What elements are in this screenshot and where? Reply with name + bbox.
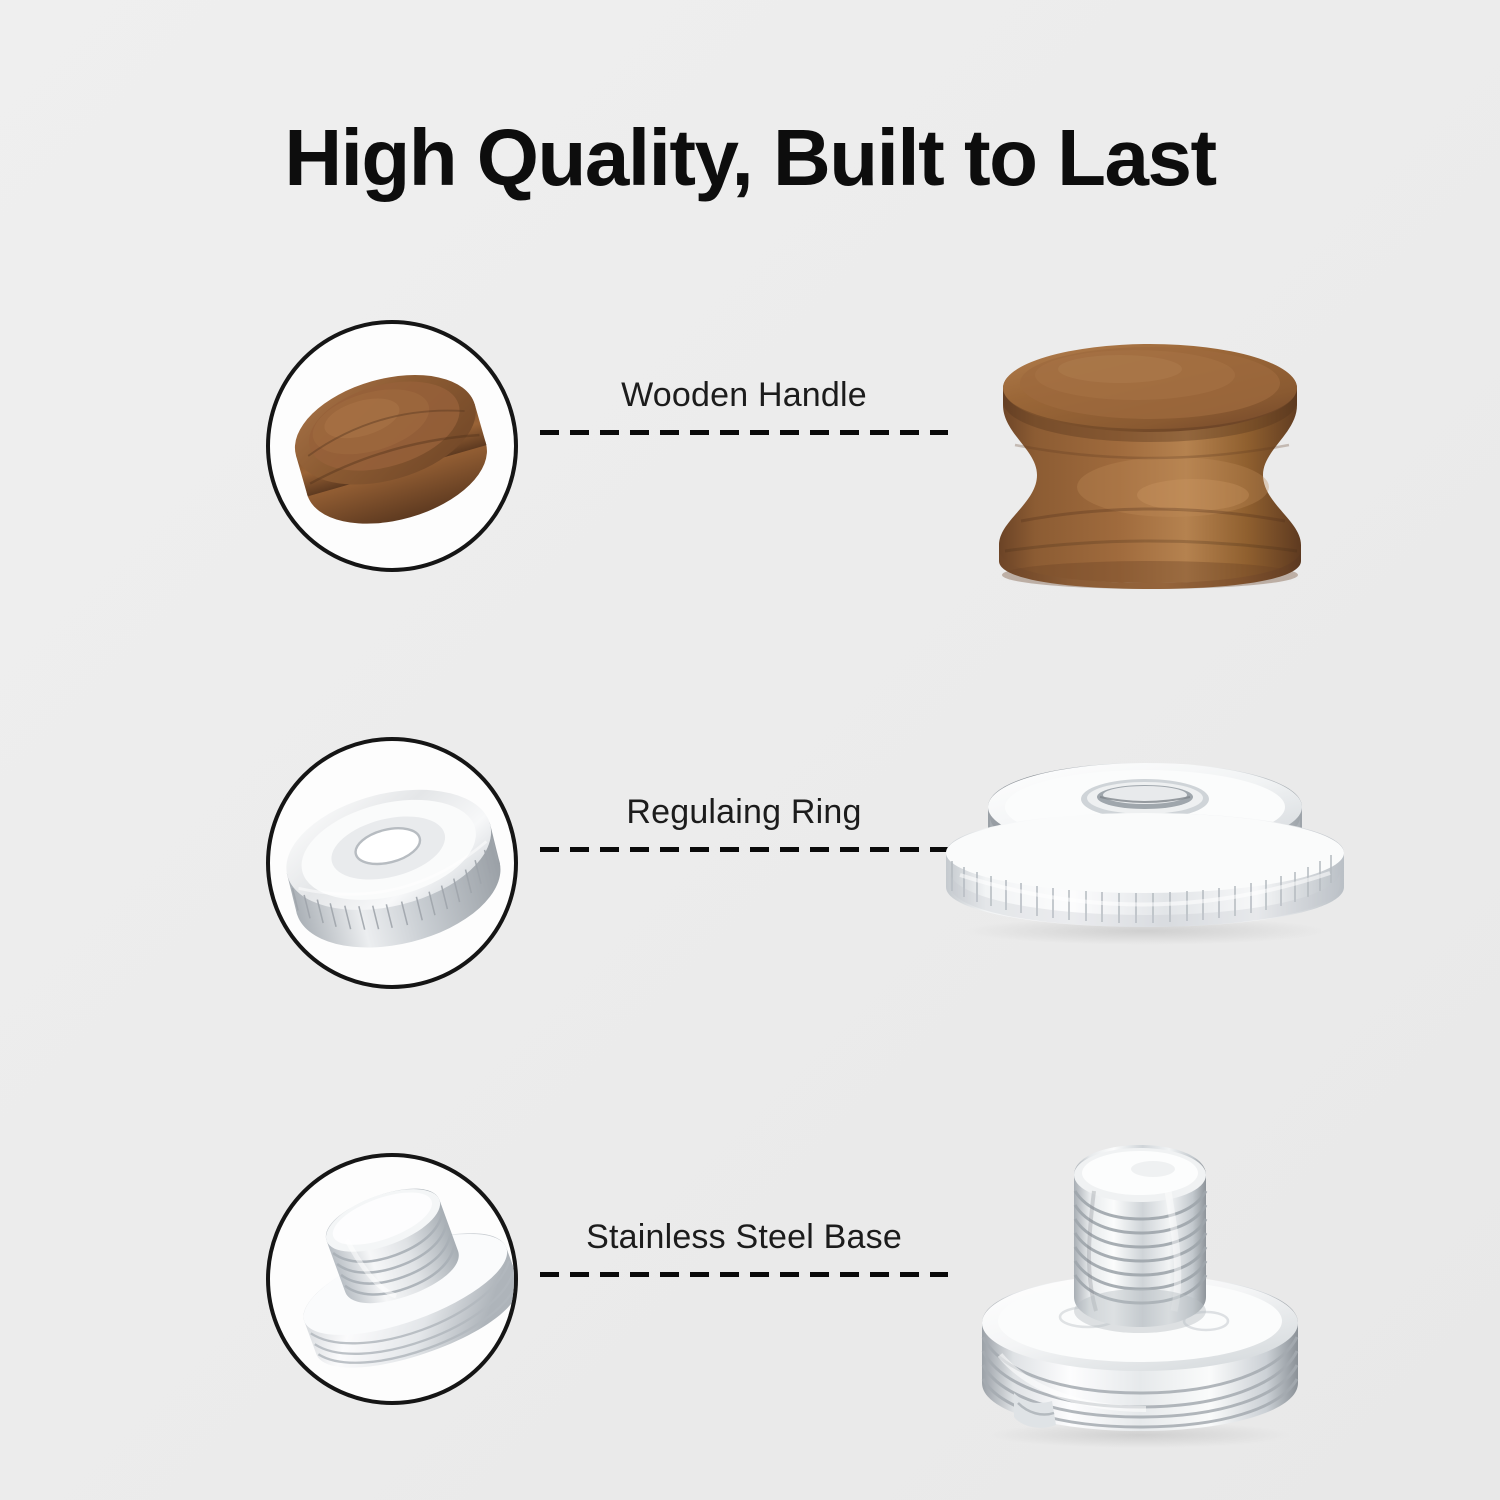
dashed-connector-line	[540, 1272, 948, 1277]
feature-row-regulating-ring: Regulaing Ring	[0, 725, 1500, 1025]
feature-row-wooden-handle: Wooden Handle	[0, 310, 1500, 610]
wooden-knob-closeup-icon	[270, 324, 514, 568]
connector-regulating-ring: Regulaing Ring	[540, 795, 948, 852]
feature-row-stainless-steel-base: Stainless Steel Base	[0, 1135, 1500, 1435]
dashed-connector-line	[540, 430, 948, 435]
feature-label-stainless-base: Stainless Steel Base	[540, 1220, 948, 1254]
page-title: High Quality, Built to Last	[0, 112, 1500, 204]
hero-image-regulating-ring	[930, 745, 1360, 955]
callout-circle-stainless-base	[266, 1153, 518, 1405]
infographic-page: High Quality, Built to Last	[0, 0, 1500, 1500]
feature-label-wooden-handle: Wooden Handle	[540, 378, 948, 412]
regulating-ring-closeup-icon	[270, 741, 514, 985]
hero-image-wooden-handle	[945, 325, 1345, 595]
feature-label-regulating-ring: Regulaing Ring	[540, 795, 948, 829]
dashed-connector-line	[540, 847, 948, 852]
connector-wooden-handle: Wooden Handle	[540, 378, 948, 435]
callout-circle-regulating-ring	[266, 737, 518, 989]
hero-image-stainless-base	[960, 1135, 1320, 1465]
stainless-base-closeup-icon	[270, 1157, 514, 1401]
stainless-base-product-icon	[960, 1135, 1320, 1465]
connector-stainless-base: Stainless Steel Base	[540, 1220, 948, 1277]
wooden-handle-product-icon	[945, 325, 1345, 595]
regulating-ring-product-icon	[930, 745, 1360, 955]
callout-circle-wooden-handle	[266, 320, 518, 572]
